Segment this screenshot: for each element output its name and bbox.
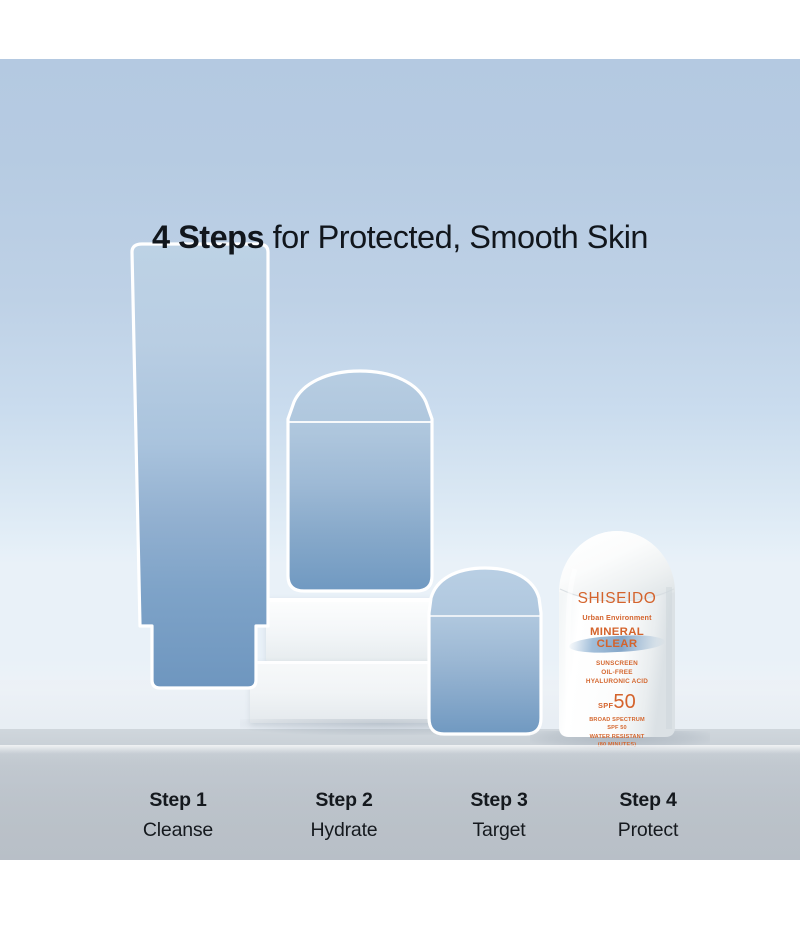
page-title-bold: 4 Steps xyxy=(152,219,264,255)
sunscreen-bottle: SHISEIDO Urban Environment MINERAL CLEAR… xyxy=(549,529,685,744)
jar-large-silhouette xyxy=(276,362,444,602)
step-caption-4: Step 4 Protect xyxy=(563,789,733,843)
step-1-number: Step 1 xyxy=(149,789,206,811)
step-caption-2: Step 2 Hydrate xyxy=(259,789,429,843)
product-infographic: SHISEIDO Urban Environment MINERAL CLEAR… xyxy=(0,0,800,927)
step-3-number: Step 3 xyxy=(470,789,527,811)
page-title: 4 Steps for Protected, Smooth Skin xyxy=(0,219,800,256)
step-4-action: Protect xyxy=(563,819,733,843)
page-title-rest: for Protected, Smooth Skin xyxy=(264,219,648,255)
step-4-number: Step 4 xyxy=(619,789,676,811)
step-2-number: Step 2 xyxy=(315,789,372,811)
step-caption-3: Step 3 Target xyxy=(414,789,584,843)
step-2-action: Hydrate xyxy=(259,819,429,843)
step-1-action: Cleanse xyxy=(93,819,263,843)
step-3-action: Target xyxy=(414,819,584,843)
product-photo: SHISEIDO Urban Environment MINERAL CLEAR… xyxy=(0,59,800,860)
step-caption-1: Step 1 Cleanse xyxy=(93,789,263,843)
surface-front-edge xyxy=(0,745,800,754)
jar-small-silhouette xyxy=(422,560,548,746)
tube-silhouette xyxy=(110,236,290,696)
